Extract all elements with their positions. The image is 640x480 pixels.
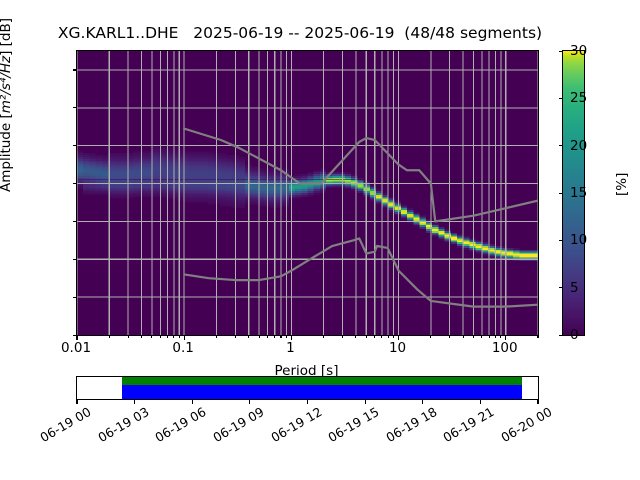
timeline-tick-label: 06-19 21 xyxy=(441,404,497,445)
x-axis-tick xyxy=(291,335,292,340)
timeline-tick xyxy=(307,399,308,404)
y-axis-title-post: ] [dB] xyxy=(0,18,14,56)
colorbar-tick-label: 30 xyxy=(570,43,587,59)
x-axis-minor-tick xyxy=(259,335,260,338)
x-axis-minor-tick xyxy=(286,335,287,338)
x-axis-tick-label: 0.1 xyxy=(172,340,193,356)
timeline-tick xyxy=(422,399,423,404)
x-axis-minor-tick xyxy=(141,335,142,338)
timeline-tick-label: 06-19 00 xyxy=(37,404,93,445)
x-axis-minor-tick xyxy=(388,335,389,338)
x-axis-minor-tick xyxy=(495,335,496,338)
x-axis-minor-tick xyxy=(473,335,474,338)
data-coverage-bar xyxy=(122,385,522,399)
x-axis-minor-tick xyxy=(366,335,367,338)
y-axis-tick xyxy=(73,259,78,260)
ppsd-density-region xyxy=(77,51,538,335)
x-axis-minor-tick xyxy=(280,335,281,338)
x-axis-minor-tick xyxy=(160,335,161,338)
y-axis-title-units: m²/s⁴/Hz xyxy=(0,56,14,113)
colorbar-tick-label: 25 xyxy=(570,90,587,106)
x-axis-minor-tick xyxy=(274,335,275,338)
colorbar-title: [%] xyxy=(614,173,630,196)
x-axis-minor-tick xyxy=(481,335,482,338)
x-axis-minor-tick xyxy=(449,335,450,338)
colorbar-tick-label: 0 xyxy=(570,327,579,343)
x-axis-minor-tick xyxy=(109,335,110,338)
x-axis-minor-tick xyxy=(267,335,268,338)
x-axis-minor-tick xyxy=(489,335,490,338)
x-axis-minor-tick xyxy=(179,335,180,338)
colorbar-tick xyxy=(559,98,564,99)
x-axis-minor-tick xyxy=(173,335,174,338)
colorbar-tick xyxy=(559,193,564,194)
y-axis-title-pre: Amplitude [ xyxy=(0,113,14,192)
y-axis-tick xyxy=(73,221,78,222)
x-axis-tick xyxy=(184,335,185,340)
timeline-tick-label: 06-20 00 xyxy=(498,404,554,445)
colorbar-tick-label: 15 xyxy=(570,185,587,201)
x-axis-minor-tick xyxy=(235,335,236,338)
timeline-tick-label: 06-19 18 xyxy=(383,404,439,445)
timeline-tick-label: 06-19 09 xyxy=(210,404,266,445)
colorbar-tick xyxy=(559,335,564,336)
y-axis-tick xyxy=(73,145,78,146)
timeline-tick-label: 06-19 12 xyxy=(268,404,324,445)
timeline-tick-label: 06-19 15 xyxy=(325,404,381,445)
y-axis-tick xyxy=(73,297,78,298)
ppsd-plot-axes xyxy=(76,50,539,336)
ppsd-density-svg xyxy=(77,51,538,335)
timeline-tick xyxy=(192,399,193,404)
x-axis-tick xyxy=(76,335,77,340)
colorbar-tick xyxy=(559,240,564,241)
timeline-tick xyxy=(365,399,366,404)
x-axis-minor-tick xyxy=(216,335,217,338)
timeline-tick xyxy=(76,399,77,404)
x-axis-minor-tick xyxy=(430,335,431,338)
x-axis-minor-tick xyxy=(342,335,343,338)
timeline-tick-label: 06-19 06 xyxy=(153,404,209,445)
page-title: XG.KARL1..DHE 2025-06-19 -- 2025-06-19 (… xyxy=(0,24,600,42)
x-axis-minor-tick xyxy=(151,335,152,338)
x-axis-tick-label: 0.01 xyxy=(61,340,91,356)
x-axis-tick xyxy=(398,335,399,340)
x-axis-minor-tick xyxy=(167,335,168,338)
x-axis-minor-tick xyxy=(537,335,538,338)
x-axis-tick-label: 100 xyxy=(492,340,518,356)
x-axis-tick-label: 1 xyxy=(286,340,295,356)
colorbar: 051015202530 xyxy=(562,50,585,336)
timeline-tick xyxy=(249,399,250,404)
timeline-bars xyxy=(122,377,522,399)
timeline-tick-label: 06-19 03 xyxy=(95,404,151,445)
y-axis-tick xyxy=(73,107,78,108)
y-axis-title: Amplitude [m²/s⁴/Hz] [dB] xyxy=(0,18,14,192)
x-axis-tick xyxy=(505,335,506,340)
y-axis-tick xyxy=(73,69,78,70)
colorbar-tick xyxy=(559,145,564,146)
x-axis-minor-tick xyxy=(500,335,501,338)
colorbar-tick-label: 10 xyxy=(570,232,587,248)
timeline-tick xyxy=(537,399,538,404)
colorbar-tick-label: 5 xyxy=(570,280,579,296)
x-axis-minor-tick xyxy=(374,335,375,338)
x-axis-minor-tick xyxy=(128,335,129,338)
colorbar-tick-label: 20 xyxy=(570,138,587,154)
timeline-tick xyxy=(480,399,481,404)
x-axis-minor-tick xyxy=(355,335,356,338)
timeline-axes xyxy=(76,376,539,400)
timeline-tick xyxy=(134,399,135,404)
x-axis-minor-tick xyxy=(323,335,324,338)
x-axis-minor-tick xyxy=(463,335,464,338)
x-axis-minor-tick xyxy=(381,335,382,338)
y-axis-tick xyxy=(73,183,78,184)
colorbar-tick xyxy=(559,51,564,52)
x-axis-tick-label: 10 xyxy=(389,340,406,356)
psd-segments-bar xyxy=(122,377,522,385)
x-axis-minor-tick xyxy=(393,335,394,338)
colorbar-tick xyxy=(559,287,564,288)
x-axis-minor-tick xyxy=(248,335,249,338)
